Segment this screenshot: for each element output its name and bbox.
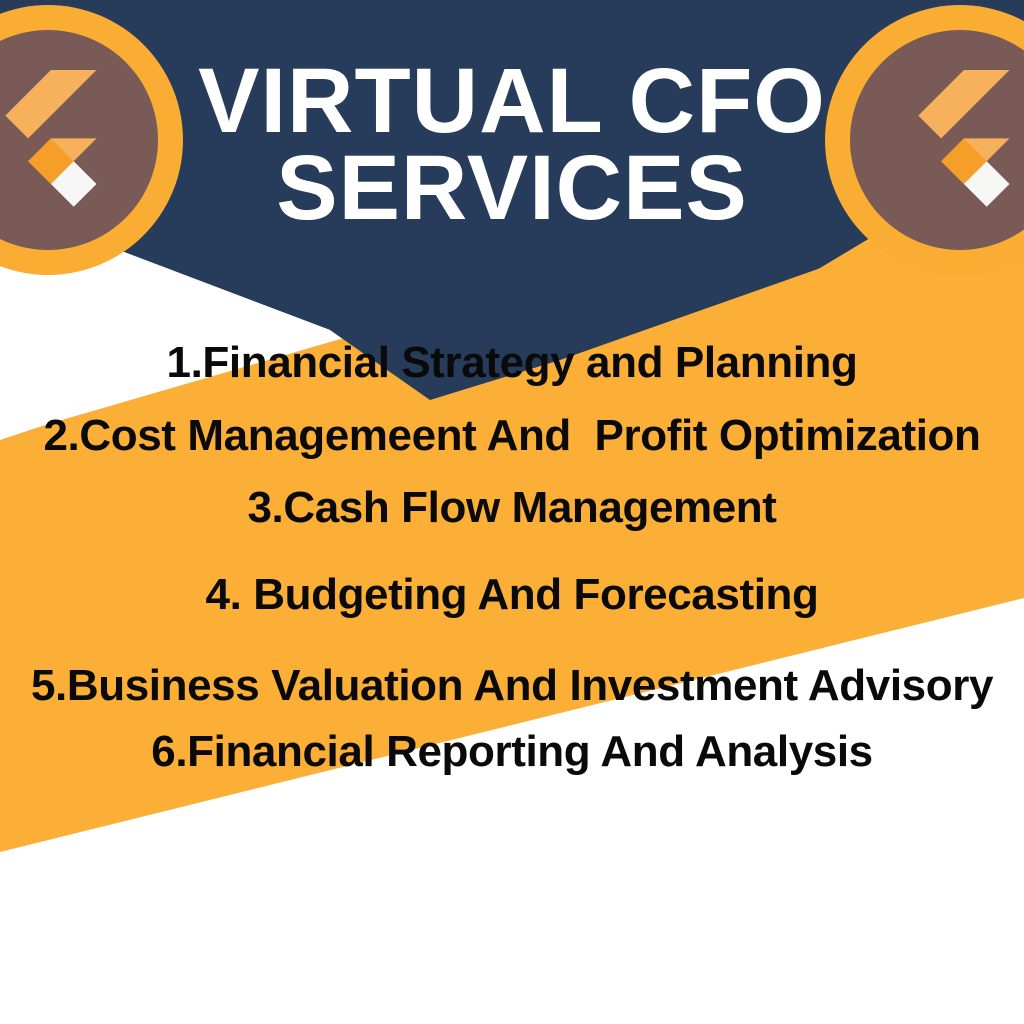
list-item: 6.Financial Reporting And Analysis (0, 729, 1024, 776)
poster-canvas: VIRTUAL CFO SERVICES 1.Financial Strateg… (0, 0, 1024, 1024)
list-item: 2.Cost Managemeent And Profit Optimizati… (0, 413, 1024, 460)
list-item: 4. Budgeting And Forecasting (0, 572, 1024, 619)
list-item: 3.Cash Flow Management (0, 485, 1024, 532)
service-list: 1.Financial Strategy and Planning 2.Cost… (0, 340, 1024, 776)
list-item: 5.Business Valuation And Investment Advi… (0, 663, 1024, 710)
list-item: 1.Financial Strategy and Planning (0, 340, 1024, 387)
